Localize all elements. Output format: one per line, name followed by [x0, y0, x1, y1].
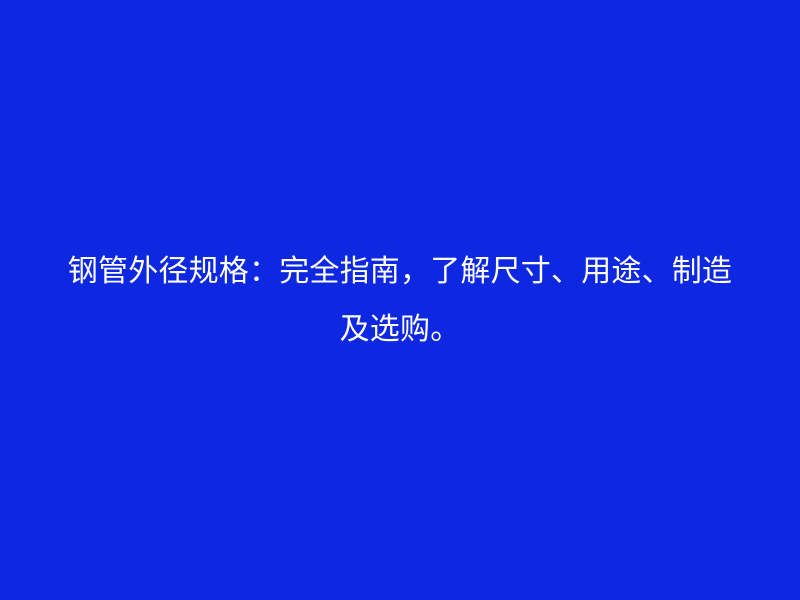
headline-block: 钢管外径规格：完全指南，了解尺寸、用途、制造及选购。 [50, 243, 750, 359]
title-card: 钢管外径规格：完全指南，了解尺寸、用途、制造及选购。 [0, 0, 800, 600]
page-title: 钢管外径规格：完全指南，了解尺寸、用途、制造及选购。 [55, 243, 745, 359]
